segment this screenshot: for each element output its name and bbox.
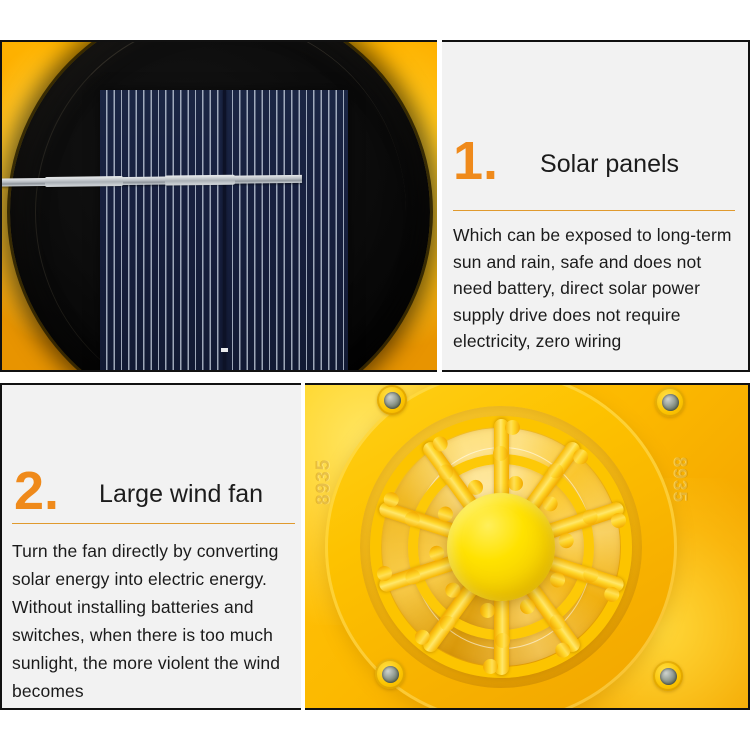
- section-title-solar-panels: Solar panels: [540, 150, 679, 183]
- wind-fan-description: Turn the fan directly by converting sola…: [12, 537, 296, 705]
- fan-center-hub: [447, 493, 555, 601]
- cell-center-gap: [223, 90, 226, 372]
- solar-panel-description: Which can be exposed to long-term sun an…: [453, 222, 743, 355]
- wind-fan-heading-row: 2. Large wind fan: [14, 470, 263, 513]
- product-feature-page: 1. Solar panels Which can be exposed to …: [0, 0, 750, 750]
- fan-inner-ring: [360, 406, 642, 688]
- fan-screw-bottom-left: [375, 659, 405, 689]
- solar-panel-text-panel: 1. Solar panels Which can be exposed to …: [437, 40, 750, 372]
- fan-housing-yellow: 8935 8935: [303, 385, 748, 708]
- wind-fan-photo: 8935 8935: [303, 383, 750, 710]
- fan-screw-top-right: [655, 387, 685, 417]
- solar-panel-photo: [0, 40, 437, 372]
- busbar-solder-left: [45, 176, 123, 187]
- section-number-2: 2.: [14, 470, 59, 513]
- solar-panel-heading-rule: [453, 210, 735, 211]
- wind-fan-heading-rule: [12, 523, 295, 524]
- fan-outer-ring: [325, 385, 677, 708]
- fan-screw-top-left: [377, 385, 407, 415]
- fan-emboss-text-right: 8935: [668, 457, 690, 503]
- solar-cell: [100, 90, 348, 372]
- section-number-1: 1.: [453, 140, 498, 183]
- fan-emboss-text-left: 8935: [313, 459, 335, 505]
- section-title-large-wind-fan: Large wind fan: [99, 480, 263, 513]
- busbar-solder-right: [165, 175, 235, 186]
- fan-screw-bottom-right: [653, 661, 683, 691]
- section-2-seam: [301, 383, 305, 710]
- solar-panel-heading-row: 1. Solar panels: [453, 140, 679, 183]
- cell-marker-dot: [221, 348, 228, 352]
- feature-section-solar-panels: 1. Solar panels Which can be exposed to …: [0, 40, 750, 372]
- section-1-seam: [437, 40, 442, 372]
